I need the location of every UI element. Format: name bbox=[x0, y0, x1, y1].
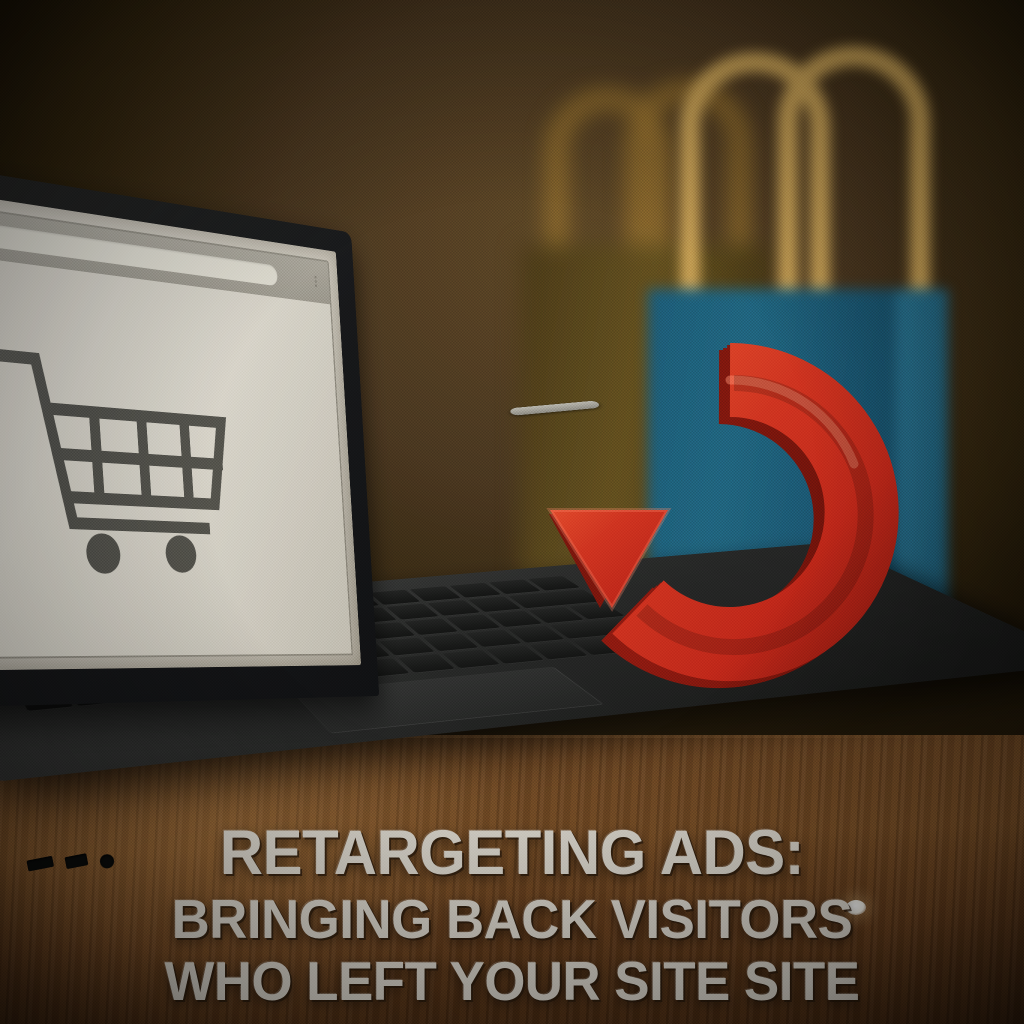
headline-line-1: RETARGETING ADS: bbox=[26, 822, 999, 885]
laptop-lid bbox=[0, 144, 379, 710]
laptop-screen bbox=[0, 175, 361, 672]
browser-viewport bbox=[0, 241, 353, 660]
shopping-cart-icon bbox=[0, 339, 252, 582]
headline-text-block: RETARGETING ADS: BRINGING BACK VISITORS … bbox=[0, 822, 1024, 1009]
refresh-arrow-graphic bbox=[520, 340, 940, 720]
headline-line-2: BRINGING BACK VISITORS bbox=[20, 892, 1003, 947]
circular-refresh-arrow bbox=[520, 340, 940, 720]
headline-line-3: WHO LEFT YOUR SITE SITE bbox=[20, 954, 1003, 1009]
promotional-graphic: RETARGETING ADS: BRINGING BACK VISITORS … bbox=[0, 0, 1024, 1024]
browser-menu-icon[interactable] bbox=[309, 273, 323, 290]
